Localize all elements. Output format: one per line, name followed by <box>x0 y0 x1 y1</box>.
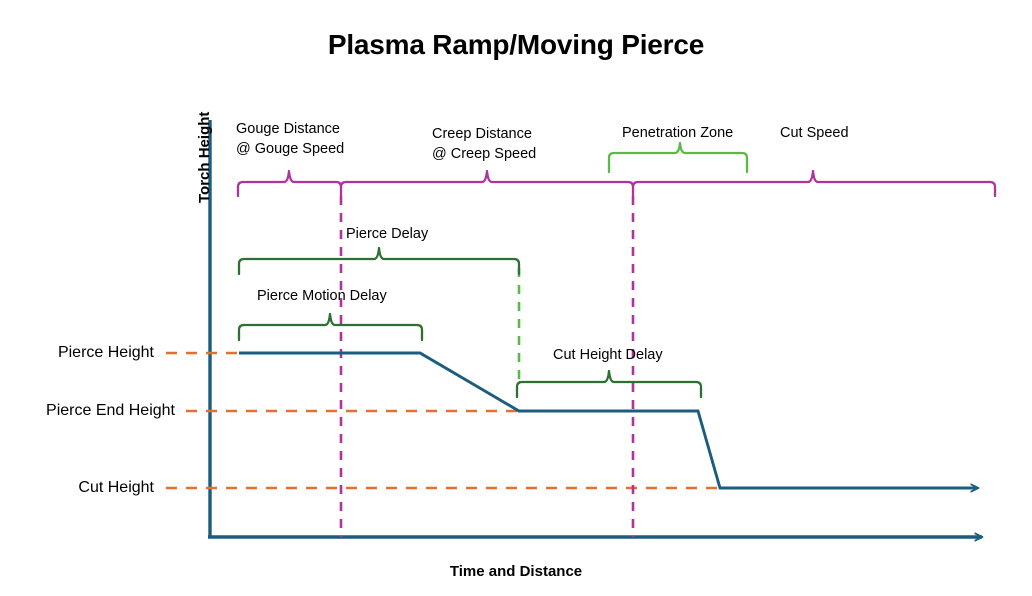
diagram-canvas <box>0 0 1032 596</box>
x-axis-title: Time and Distance <box>0 563 1032 582</box>
bracket-right-cap <box>990 182 995 196</box>
top-speed-bracket <box>238 171 995 196</box>
pierce-height-label: Pierce Height <box>0 343 154 363</box>
cut-speed-riser <box>633 182 808 187</box>
pierce-delay-label: Pierce Delay <box>346 225 428 243</box>
gouge-distance-label-line2: @ Gouge Speed <box>236 140 344 158</box>
bracket-left-cap <box>238 182 284 196</box>
cut-height-delay-label: Cut Height Delay <box>553 346 663 364</box>
pierce-delay-brace <box>239 248 519 274</box>
pierce-end-height-label: Pierce End Height <box>0 401 175 421</box>
creep-distance-label-line1: Creep Distance <box>432 125 532 143</box>
cut-speed-label: Cut Speed <box>780 124 849 142</box>
y-axis-title: Torch Height <box>196 112 215 203</box>
creep-distance-label-line2: @ Creep Speed <box>432 145 536 163</box>
gouge-distance-label-line1: Gouge Distance <box>236 120 340 138</box>
creep-cut-divider <box>628 182 633 196</box>
creep-tick <box>482 171 628 182</box>
pierce-motion-delay-label: Pierce Motion Delay <box>257 287 387 305</box>
creep-start-riser <box>341 182 482 187</box>
gouge-tick <box>284 171 336 182</box>
gouge-creep-divider <box>336 182 341 196</box>
penetration-zone-brace <box>609 143 747 172</box>
cut-height-delay-brace <box>517 371 701 397</box>
penetration-zone-label: Penetration Zone <box>622 124 733 142</box>
plasma-ramp-diagram: Plasma Ramp/Moving Pierce Torch Height T… <box>0 0 1032 596</box>
pierce-motion-delay-brace <box>239 314 422 340</box>
level-reference-lines <box>166 353 720 488</box>
cut-speed-tick <box>808 171 990 182</box>
phase-marker-lines <box>341 196 633 537</box>
cut-height-label: Cut Height <box>0 478 154 498</box>
page-title: Plasma Ramp/Moving Pierce <box>0 27 1032 62</box>
